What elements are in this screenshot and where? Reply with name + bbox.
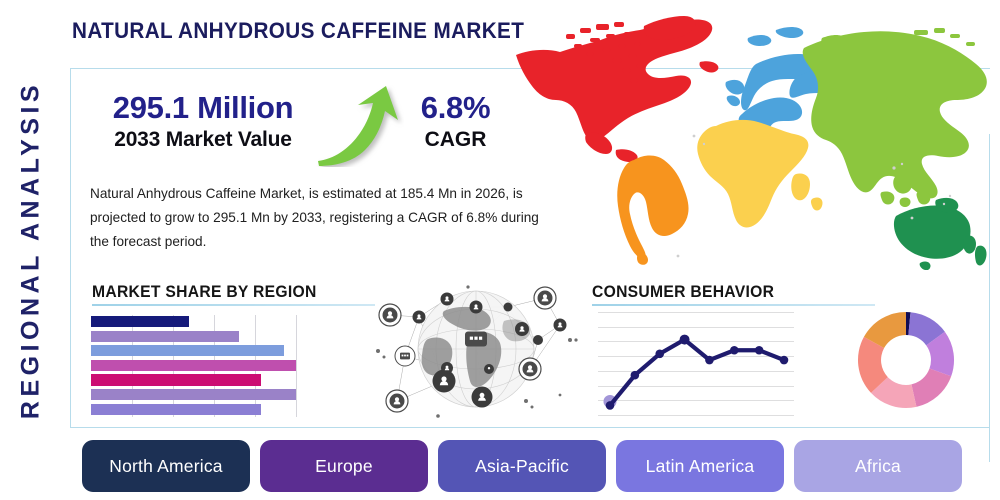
region-chip-europe[interactable]: Europe [260, 440, 428, 492]
region-chip-label: North America [109, 456, 222, 477]
region-chip-label: Africa [855, 456, 901, 477]
line-chart-point [730, 346, 739, 355]
section-rule-consumer-behavior [592, 304, 875, 306]
section-rule-market-share [92, 304, 375, 306]
page-title: NATURAL ANHYDROUS CAFFEINE MARKET [72, 18, 524, 44]
line-chart-point [680, 335, 690, 345]
region-chip-label: Latin America [646, 456, 755, 477]
donut-segment [911, 368, 951, 406]
region-chip-africa[interactable]: Africa [794, 440, 962, 492]
line-chart-point [705, 356, 714, 365]
bar-chart-bar [91, 389, 296, 400]
bar-chart-bar [91, 404, 261, 415]
line-chart-point [755, 346, 764, 355]
line-chart-series [598, 312, 794, 417]
line-chart-point [780, 356, 789, 365]
market-value: 295.1 Million [88, 90, 318, 126]
world-map-graphic [498, 8, 998, 270]
line-chart-point [655, 350, 664, 359]
region-chip-asia-pacific[interactable]: Asia-Pacific [438, 440, 606, 492]
map-region-oceania [894, 198, 987, 270]
bar-chart-bar [91, 316, 189, 327]
section-heading-market-share: MARKET SHARE BY REGION [92, 283, 317, 302]
region-chip-label: Europe [315, 456, 373, 477]
map-region-africa [697, 120, 822, 228]
bar-chart-bar [91, 331, 239, 342]
map-region-asia [803, 28, 987, 207]
kpi-block: 295.1 Million 2033 Market Value 6.8% CAG… [88, 90, 518, 170]
regional-analysis-side-label: REGIONAL ANALYSIS [0, 0, 62, 500]
donut-svg [857, 311, 955, 409]
bar-chart-gridline [296, 315, 297, 417]
market-share-bar-chart [91, 315, 296, 417]
line-chart-point [631, 371, 640, 380]
regional-distribution-donut-chart [857, 311, 955, 409]
line-chart-point [606, 401, 615, 410]
bar-chart-bar [91, 374, 261, 385]
region-chip-label: Asia-Pacific [475, 456, 569, 477]
market-value-group: 295.1 Million 2033 Market Value [88, 90, 318, 152]
region-chip-row: North AmericaEuropeAsia-PacificLatin Ame… [82, 440, 962, 492]
section-heading-consumer-behavior: CONSUMER BEHAVIOR [592, 283, 774, 302]
region-chip-latin-america[interactable]: Latin America [616, 440, 784, 492]
region-chip-north-america[interactable]: North America [82, 440, 250, 492]
bar-chart-bar [91, 360, 296, 371]
bar-chart-bar [91, 345, 284, 356]
map-region-south-america [617, 156, 688, 265]
global-network-globe-icon [372, 277, 580, 425]
infographic-page: REGIONAL ANALYSIS NATURAL ANHYDROUS CAFF… [0, 0, 1000, 500]
side-label-text: REGIONAL ANALYSIS [17, 81, 46, 419]
map-region-north-america [516, 16, 718, 162]
consumer-behavior-line-chart [598, 312, 794, 417]
market-description: Natural Anhydrous Caffeine Market, is es… [90, 182, 560, 254]
market-value-label: 2033 Market Value [88, 128, 318, 152]
